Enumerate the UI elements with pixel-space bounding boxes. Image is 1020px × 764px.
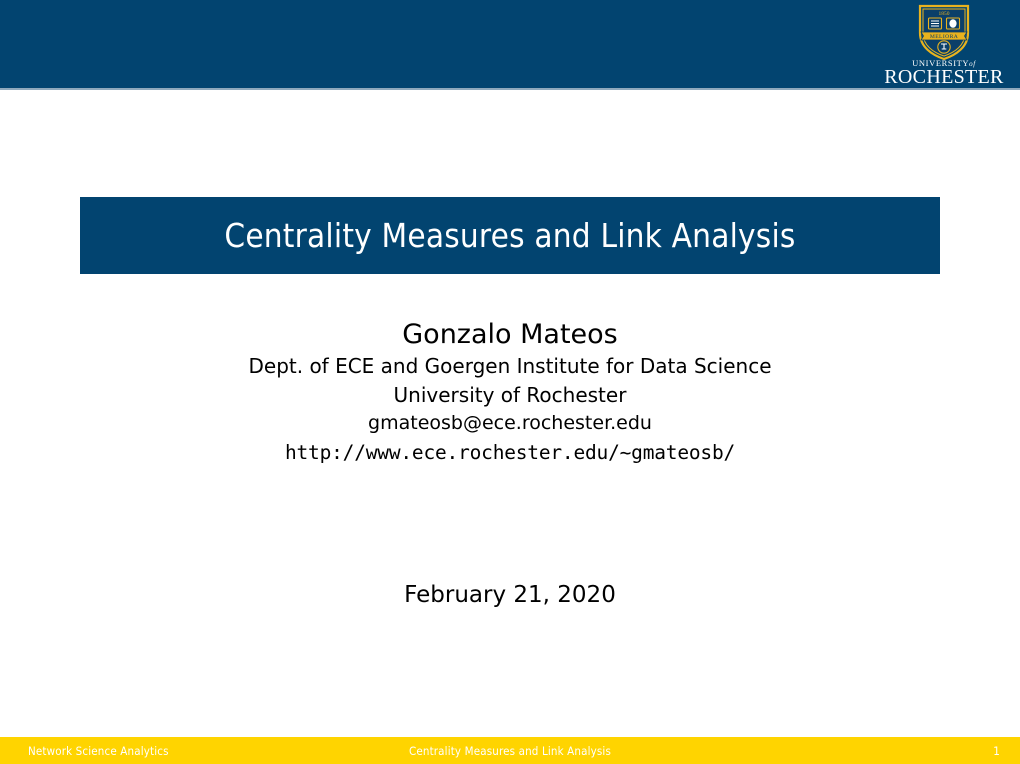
header-divider	[0, 88, 1020, 90]
author-name: Gonzalo Mateos	[0, 318, 1020, 352]
author-block: Gonzalo Mateos Dept. of ECE and Goergen …	[0, 318, 1020, 467]
university-wordmark: UNIVERSITYof ROCHESTER	[880, 59, 1008, 87]
title-banner: Centrality Measures and Link Analysis	[80, 197, 940, 274]
author-department: Dept. of ECE and Goergen Institute for D…	[0, 352, 1020, 381]
slide-date: February 21, 2020	[0, 582, 1020, 608]
university-crest-icon: 1850 MELIORA	[916, 3, 972, 61]
footer-bar: Network Science Analytics Centrality Mea…	[0, 737, 1020, 764]
author-url[interactable]: http://www.ece.rochester.edu/~gmateosb/	[0, 438, 1020, 467]
footer-slide-title: Centrality Measures and Link Analysis	[0, 744, 1020, 758]
slide-title: Centrality Measures and Link Analysis	[224, 216, 795, 255]
svg-text:1850: 1850	[939, 11, 950, 17]
university-logo: 1850 MELIORA UNIVERSITYof ROCHESTER	[880, 3, 1008, 87]
footer-page-number: 1	[993, 744, 1000, 758]
wordmark-rochester: ROCHESTER	[880, 68, 1008, 87]
author-email[interactable]: gmateosb@ece.rochester.edu	[0, 410, 1020, 438]
author-institution: University of Rochester	[0, 381, 1020, 410]
header-bar	[0, 0, 1020, 88]
svg-text:MELIORA: MELIORA	[930, 34, 958, 40]
